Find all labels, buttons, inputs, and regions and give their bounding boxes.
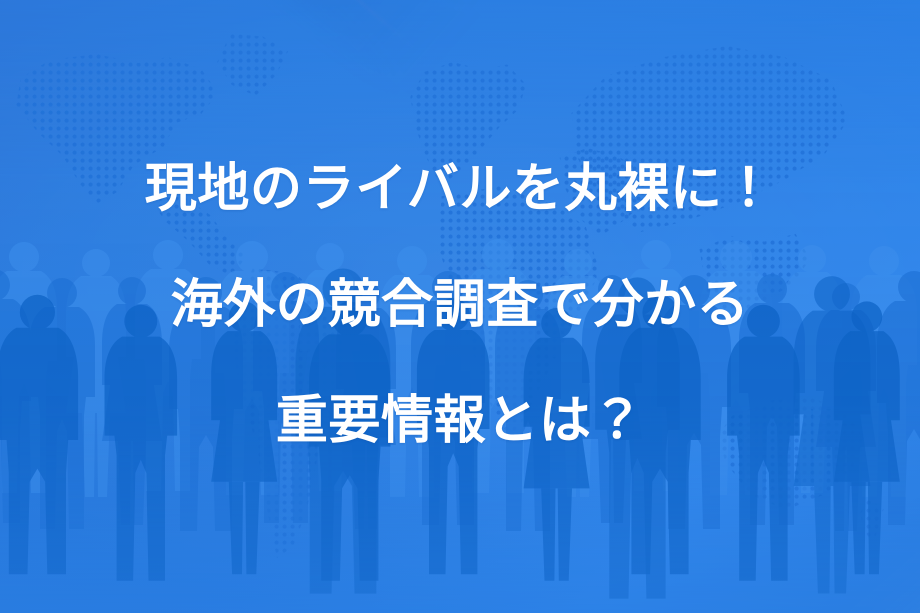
headline-line-1: 現地のライバルを丸裸に！ [145, 131, 775, 247]
headline-line-2: 海外の競合調査で分かる [171, 247, 750, 363]
headline-block: 現地のライバルを丸裸に！ 海外の競合調査で分かる 重要情報とは？ [0, 0, 920, 613]
headline-line-3: 重要情報とは？ [276, 363, 644, 479]
hero-banner: 現地のライバルを丸裸に！ 海外の競合調査で分かる 重要情報とは？ 現地のライバル… [0, 0, 920, 613]
